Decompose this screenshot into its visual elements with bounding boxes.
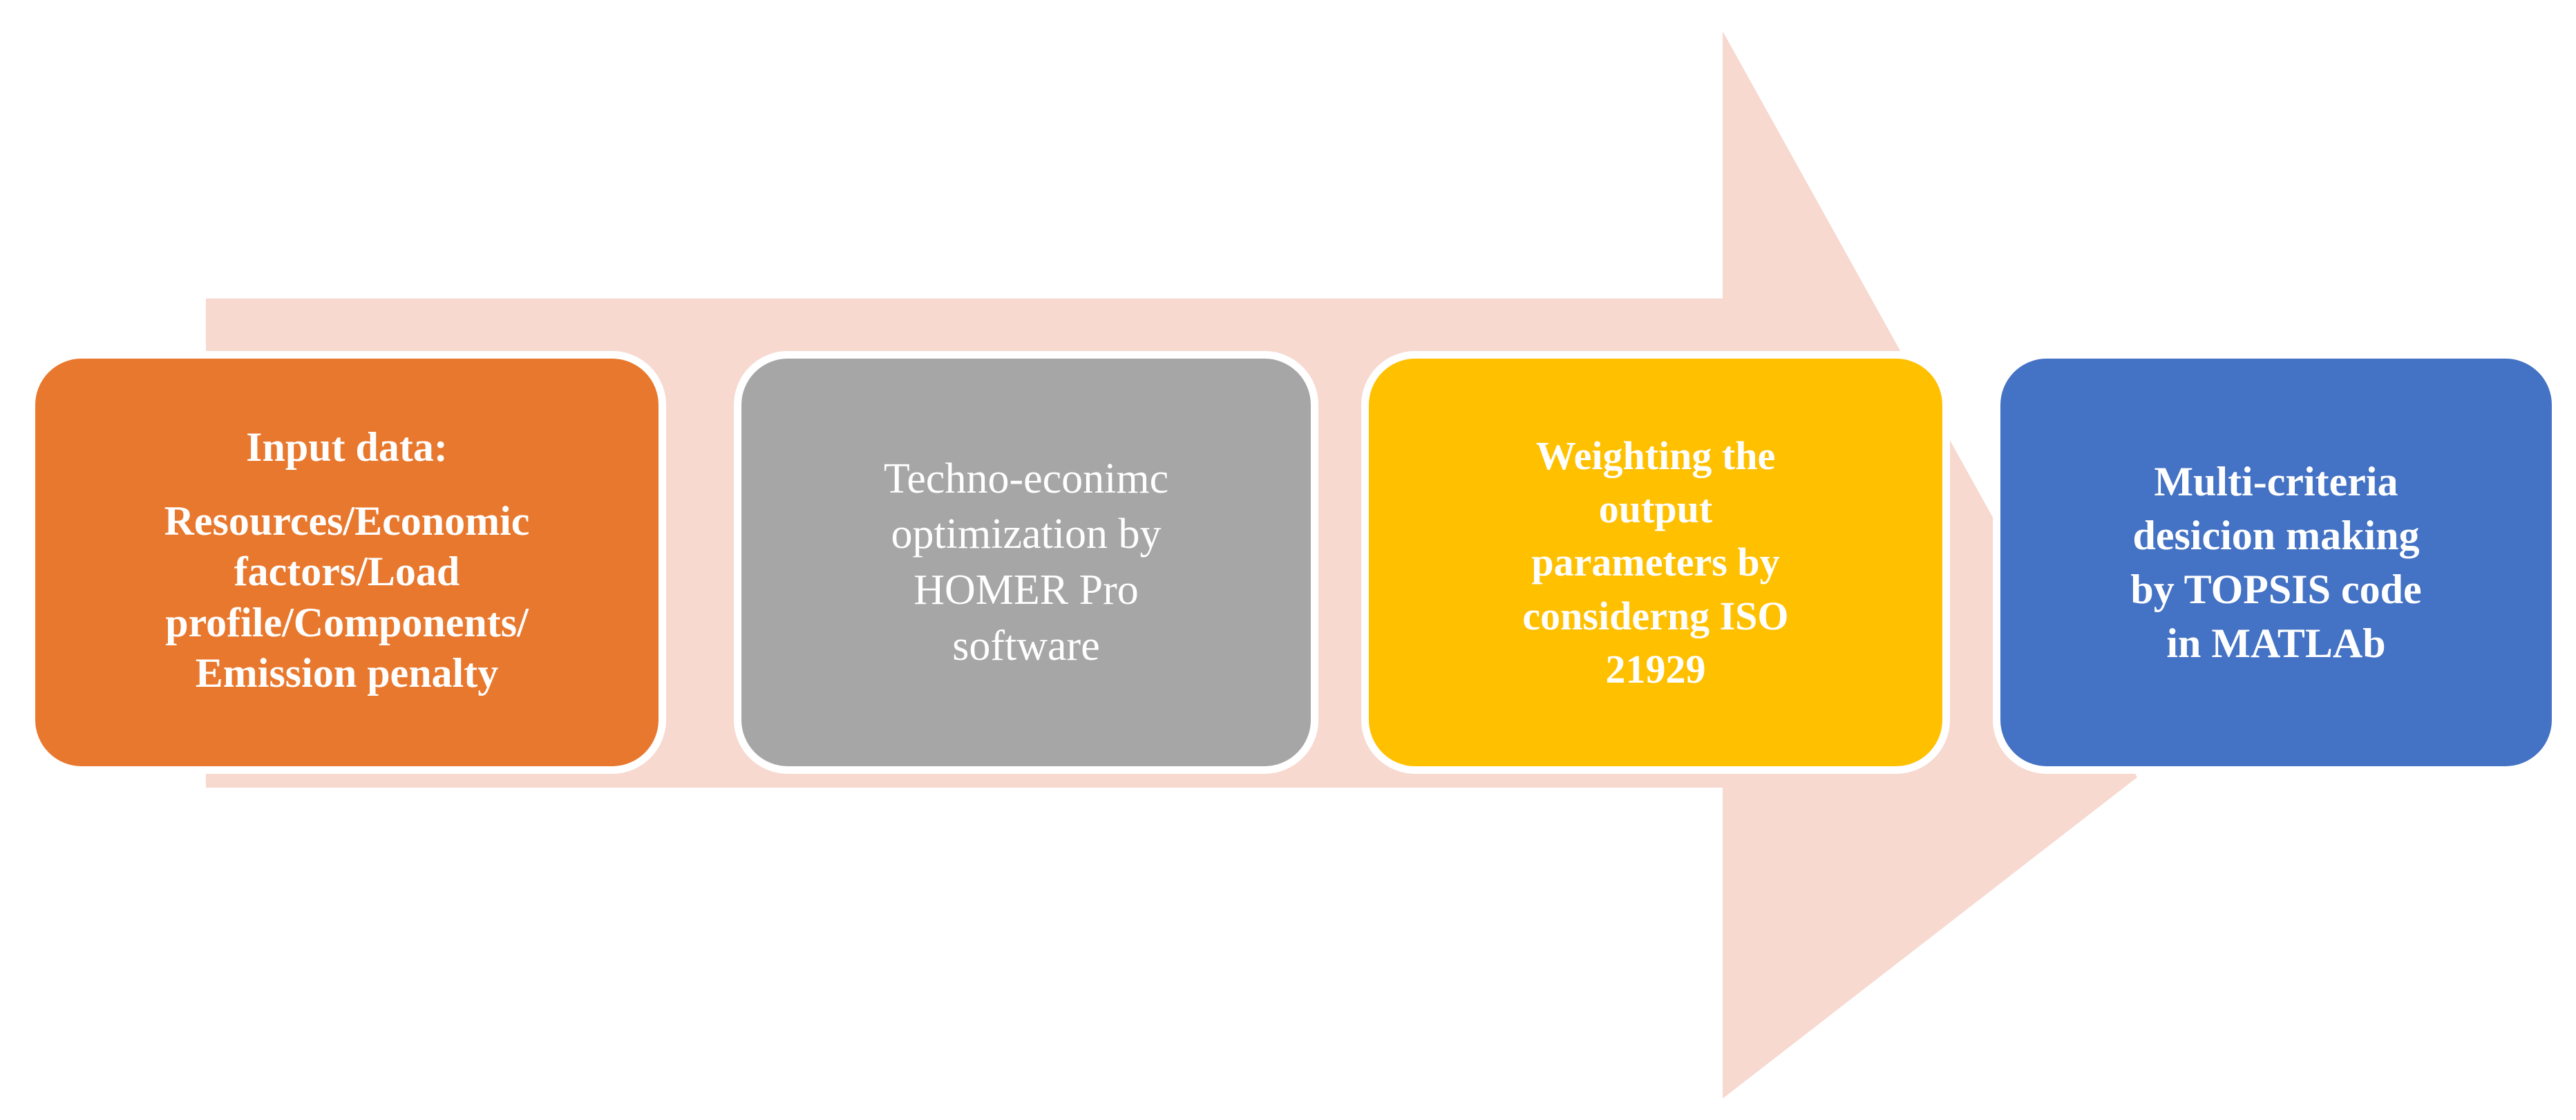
stage-box-input-data[interactable]: Input data: Resources/Economic factors/L… [28, 351, 666, 774]
stage-weighting-line-4: considerng ISO [1522, 589, 1788, 643]
stage-optimization-line-2: optimization by [884, 506, 1168, 562]
stage-weighting-body: Weighting the output parameters by consi… [1522, 429, 1788, 696]
stage-weighting-line-2: output [1522, 482, 1788, 535]
stage-box-techno-economic-optimization[interactable]: Techno-econimc optimization by HOMER Pro… [734, 351, 1318, 774]
stage-weighting-line-3: parameters by [1522, 535, 1788, 589]
stage-input-heading: Input data: [246, 426, 448, 468]
stage-input-line-4: Emission penalty [164, 648, 530, 699]
stage-input-line-2: factors/Load [164, 547, 530, 597]
stage-optimization-line-1: Techno-econimc [884, 451, 1168, 507]
stage-optimization-line-3: HOMER Pro [884, 562, 1168, 618]
stage-mcdm-line-3: by TOPSIS code [2130, 562, 2421, 616]
stage-optimization-body: Techno-econimc optimization by HOMER Pro… [884, 451, 1168, 674]
stage-input-line-1: Resources/Economic [164, 496, 530, 547]
stage-mcdm-line-4: in MATLAb [2130, 616, 2421, 670]
stage-mcdm-body: Multi-criteria desicion making by TOPSIS… [2130, 455, 2421, 670]
diagram-canvas: Input data: Resources/Economic factors/L… [0, 0, 2576, 1120]
stage-weighting-line-5: 21929 [1522, 643, 1788, 696]
stage-mcdm-line-2: desicion making [2130, 509, 2421, 562]
stage-box-weighting-output-parameters[interactable]: Weighting the output parameters by consi… [1361, 351, 1950, 774]
stage-weighting-line-1: Weighting the [1522, 429, 1788, 482]
stage-input-line-3: profile/Components/ [164, 598, 530, 648]
stage-box-multi-criteria-decision-making[interactable]: Multi-criteria desicion making by TOPSIS… [1993, 351, 2559, 774]
stage-input-heading-line: Input data: [246, 426, 448, 468]
stage-input-body: Resources/Economic factors/Load profile/… [164, 496, 530, 699]
stage-optimization-line-4: software [884, 618, 1168, 674]
stage-mcdm-line-1: Multi-criteria [2130, 455, 2421, 509]
